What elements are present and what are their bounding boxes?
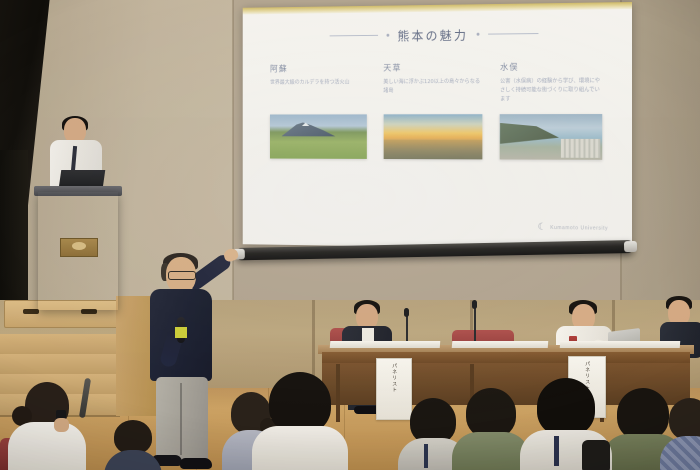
microphone-flag xyxy=(175,327,187,338)
mic-head-right xyxy=(472,300,477,309)
audience-member-2 xyxy=(252,372,348,470)
slide-content: 熊本の魅力 阿蘇 世界最大級のカルデラを持つ活火山 天草 美しい海に浮かぶ120… xyxy=(243,9,632,250)
column-heading-aso: 阿蘇 xyxy=(270,62,367,74)
audience-head xyxy=(537,378,595,436)
lanyard-icon xyxy=(424,444,428,468)
audience-member-5 xyxy=(520,378,612,470)
column-body-amakusa: 美しい海に浮かぶ120以上の島々からなる諸島 xyxy=(383,78,482,96)
audience-woman-photographing xyxy=(8,382,86,470)
audience-member-4 xyxy=(452,388,530,470)
audience-body xyxy=(104,450,162,470)
projection-screen: 熊本の魅力 阿蘇 世界最大級のカルデラを持つ活火山 天草 美しい海に浮かぶ120… xyxy=(243,2,632,250)
panel-papers-right xyxy=(560,341,680,348)
column-body-aso: 世界最大級のカルデラを持つ活火山 xyxy=(270,79,367,88)
panel-papers-middle xyxy=(452,341,548,348)
mic-head-left xyxy=(404,308,409,317)
amakusa-sunset-photo xyxy=(383,114,482,159)
slide-column-aso: 阿蘇 世界最大級のカルデラを持つ活火山 xyxy=(270,62,367,105)
aso-volcano-photo xyxy=(270,114,367,159)
audience-body xyxy=(660,436,700,470)
audience-member-7 xyxy=(660,398,700,470)
audience-head xyxy=(114,420,152,454)
column-heading-amakusa: 天草 xyxy=(383,61,482,73)
column-body-minamata: 公害（水俣病）の経験から学び、環境にやさしく持続可能な街づくりに取り組んでいます xyxy=(500,77,602,104)
lecture-hall-screenshot: 熊本の魅力 阿蘇 世界最大級のカルデラを持つ活火山 天草 美しい海に浮かぶ120… xyxy=(0,0,700,470)
speaker-shoe-right xyxy=(180,458,212,469)
university-logo-text: Kumamoto University xyxy=(550,225,608,232)
speaker-leg-split xyxy=(180,383,182,455)
audience-head xyxy=(269,372,331,434)
slide-title-row: 熊本の魅力 xyxy=(263,23,610,45)
crescent-mark-icon: ☾ xyxy=(538,223,547,233)
audience-head xyxy=(466,388,516,438)
title-dot-right xyxy=(477,33,480,36)
slide-title: 熊本の魅力 xyxy=(398,25,469,44)
panel-papers-left xyxy=(330,341,440,348)
minamata-coast-photo xyxy=(500,114,602,160)
slide-columns: 阿蘇 世界最大級のカルデラを持つ活火山 天草 美しい海に浮かぶ120以上の島々か… xyxy=(263,60,610,105)
title-rule-left xyxy=(329,35,377,37)
audience-hand xyxy=(54,418,69,432)
audience-body xyxy=(452,432,530,470)
nameplate-left-text: パネリスト xyxy=(391,363,397,393)
slide-column-amakusa: 天草 美しい海に浮かぶ120以上の島々からなる諸島 xyxy=(383,61,482,104)
column-heading-minamata: 水俣 xyxy=(500,60,602,73)
title-dot-left xyxy=(386,34,389,37)
slide-photos xyxy=(263,114,610,160)
lanyard-icon xyxy=(554,436,559,466)
backpack-icon xyxy=(582,440,610,470)
glasses-icon xyxy=(168,271,196,280)
speaker-trousers xyxy=(156,377,208,461)
university-logo: ☾ Kumamoto University xyxy=(538,223,609,234)
title-rule-right xyxy=(488,33,538,35)
audience-body xyxy=(8,422,86,470)
audience-head xyxy=(669,398,700,440)
university-crest-icon xyxy=(60,238,98,257)
slide-column-minamata: 水俣 公害（水俣病）の経験から学び、環境にやさしく持続可能な街づくりに取り組んで… xyxy=(500,60,602,104)
audience-body xyxy=(252,426,348,470)
audience-member-8 xyxy=(104,420,162,470)
